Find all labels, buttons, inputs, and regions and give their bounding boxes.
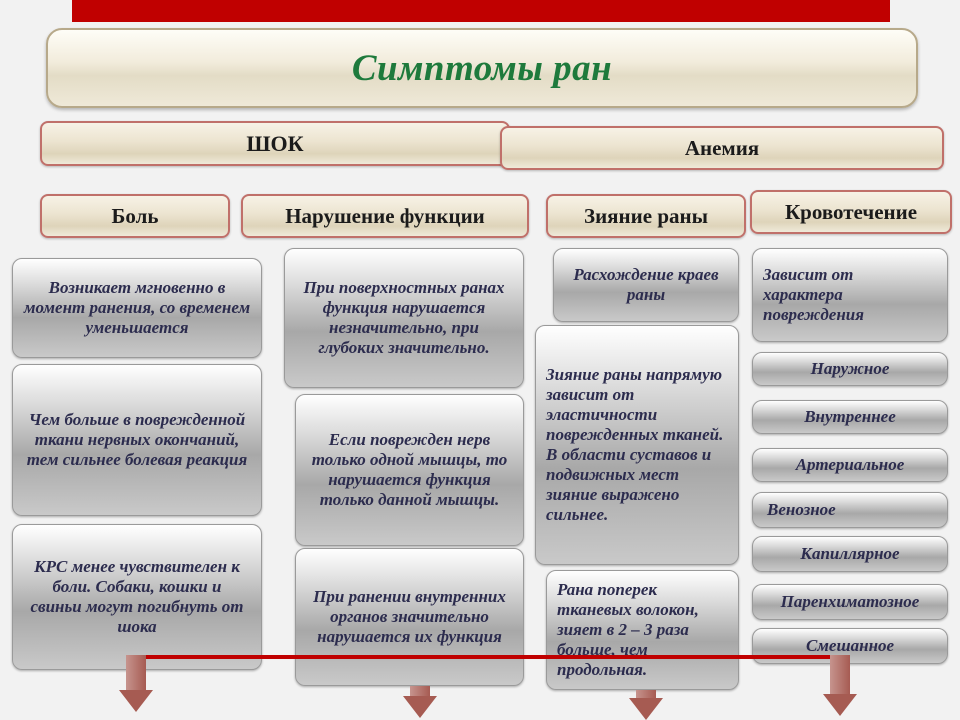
bleeding-item-text-1: Наружное [811, 359, 890, 379]
column-header-pain: Боль [40, 194, 230, 238]
function-item-0: При поверхностных ранах функция нарушает… [284, 248, 524, 388]
column-header-gaping: Зияние раны [546, 194, 746, 238]
arrow-head-bleeding [823, 694, 857, 716]
bleeding-item-text-2: Внутреннее [804, 407, 896, 427]
bleeding-item-0: Зависит от характера повреждения [752, 248, 948, 342]
column-header-function: Нарушение функции [241, 194, 529, 238]
function-item-2: При ранении внутренних органов значитель… [295, 548, 524, 686]
bleeding-item-text-5: Капиллярное [800, 544, 899, 564]
bleeding-item-text-4: Венозное [767, 500, 836, 520]
pain-item-text-1: Чем больше в поврежденной ткани нервных … [25, 410, 249, 470]
column-header-label-3: Кровотечение [785, 200, 917, 225]
level1-label-anemia: Анемия [685, 136, 759, 161]
bleeding-item-text-3: Артериальное [796, 455, 905, 475]
bleeding-item-3: Артериальное [752, 448, 948, 482]
function-item-1: Если поврежден нерв только одной мышцы, … [295, 394, 524, 546]
column-header-label-1: Нарушение функции [285, 204, 485, 229]
bleeding-item-text-7: Смешанное [806, 636, 894, 656]
gaping-item-text-1: Зияние раны напрямую зависит от эластичн… [546, 365, 728, 525]
level1-box-anemia: Анемия [500, 126, 944, 170]
function-item-text-0: При поверхностных ранах функция нарушает… [295, 278, 513, 358]
arrow-head-function [403, 696, 437, 718]
bleeding-item-1: Наружное [752, 352, 948, 386]
bleeding-item-2: Внутреннее [752, 400, 948, 434]
arrow-shaft-pain [126, 655, 146, 691]
pain-item-text-2: КРС менее чувствителен к боли. Собаки, к… [25, 557, 249, 637]
level1-label-shock: ШОК [246, 131, 303, 157]
gaping-item-text-2: Рана поперек тканевых волокон, зияет в 2… [557, 580, 728, 680]
top-red-banner [72, 0, 890, 22]
arrow-head-pain [119, 690, 153, 712]
arrow-head-gaping [629, 698, 663, 720]
bleeding-item-5: Капиллярное [752, 536, 948, 572]
level1-box-shock: ШОК [40, 121, 510, 166]
function-item-text-2: При ранении внутренних органов значитель… [306, 587, 513, 647]
title-plaque: Симптомы ран [46, 28, 918, 108]
gaping-item-1: Зияние раны напрямую зависит от эластичн… [535, 325, 739, 565]
gaping-item-2: Рана поперек тканевых волокон, зияет в 2… [546, 570, 739, 690]
pain-item-2: КРС менее чувствителен к боли. Собаки, к… [12, 524, 262, 670]
bleeding-item-4: Венозное [752, 492, 948, 528]
slide-canvas: Симптомы ран ШОК Анемия Боль Нарушение ф… [0, 0, 960, 720]
bleeding-item-6: Паренхиматозное [752, 584, 948, 620]
bleeding-item-text-6: Паренхиматозное [781, 592, 920, 612]
column-header-bleeding: Кровотечение [750, 190, 952, 234]
column-header-label-2: Зияние раны [584, 204, 708, 229]
gaping-item-text-0: Расхождение краев раны [562, 265, 730, 305]
pain-item-0: Возникает мгновенно в момент ранения, со… [12, 258, 262, 358]
pain-item-text-0: Возникает мгновенно в момент ранения, со… [23, 278, 251, 338]
bottom-connector-rail [136, 655, 836, 659]
gaping-item-0: Расхождение краев раны [553, 248, 739, 322]
pain-item-1: Чем больше в поврежденной ткани нервных … [12, 364, 262, 516]
arrow-shaft-bleeding [830, 655, 850, 695]
page-title: Симптомы ран [352, 47, 612, 90]
function-item-text-1: Если поврежден нерв только одной мышцы, … [306, 430, 513, 510]
column-header-label-0: Боль [112, 204, 159, 229]
bleeding-item-text-0: Зависит от характера повреждения [763, 265, 937, 325]
